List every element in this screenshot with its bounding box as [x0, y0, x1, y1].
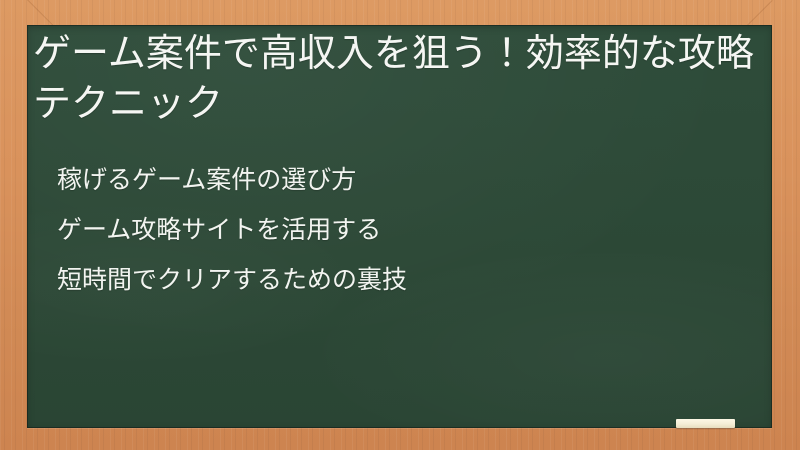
list-item: 短時間でクリアするための裏技: [57, 255, 747, 305]
chalkboard-topic-list: 稼げるゲーム案件の選び方 ゲーム攻略サイトを活用する 短時間でクリアするための裏…: [57, 155, 747, 305]
chalkboard-surface: ゲーム案件で高収入を狙う！効率的な攻略テクニック 稼げるゲーム案件の選び方 ゲー…: [27, 25, 772, 428]
list-item: ゲーム攻略サイトを活用する: [57, 205, 747, 255]
chalk-stick: [676, 419, 735, 428]
list-item: 稼げるゲーム案件の選び方: [57, 155, 747, 205]
chalkboard-eyecatch-image: ゲーム案件で高収入を狙う！効率的な攻略テクニック 稼げるゲーム案件の選び方 ゲー…: [0, 0, 800, 450]
chalkboard-title: ゲーム案件で高収入を狙う！効率的な攻略テクニック: [33, 25, 757, 129]
